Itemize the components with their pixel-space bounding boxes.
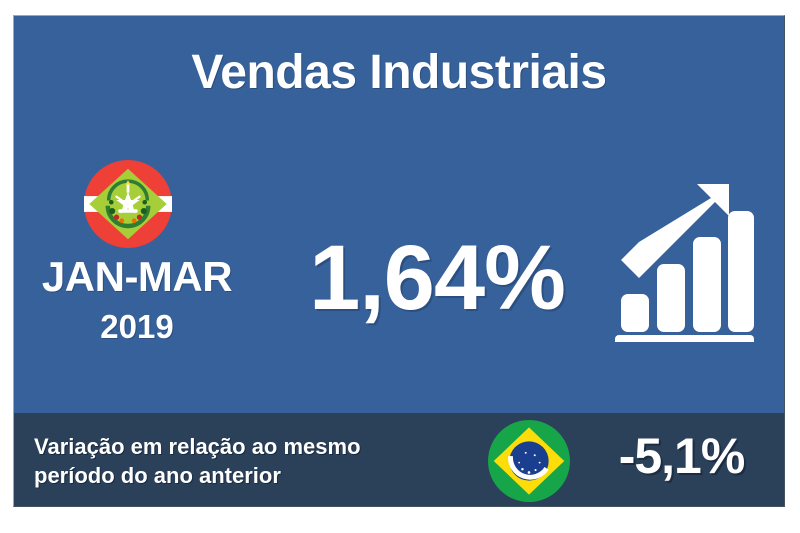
primary-value: 1,64% — [272, 232, 602, 324]
main-content: JAN-MAR 2019 1,64% — [14, 144, 784, 413]
page-title: Vendas Industriais — [14, 48, 784, 98]
footer-caption-line-2: período do ano anterior — [34, 461, 454, 490]
brazil-flag-icon — [488, 420, 570, 502]
header-band: Vendas Industriais — [14, 16, 784, 144]
santa-catarina-flag-icon — [84, 160, 172, 248]
growth-bar-chart-arrow-icon — [611, 182, 756, 342]
infographic-card: Vendas Industriais — [13, 15, 785, 507]
period-range-label: JAN-MAR — [14, 256, 260, 298]
comparison-value: -5,1% — [584, 431, 779, 481]
period-year-label: 2019 — [14, 310, 260, 343]
footer-caption-line-1: Variação em relação ao mesmo — [34, 432, 454, 461]
footer-caption: Variação em relação ao mesmo período do … — [34, 432, 454, 490]
footer-band: Variação em relação ao mesmo período do … — [14, 413, 784, 507]
period-block: JAN-MAR 2019 — [14, 144, 269, 413]
